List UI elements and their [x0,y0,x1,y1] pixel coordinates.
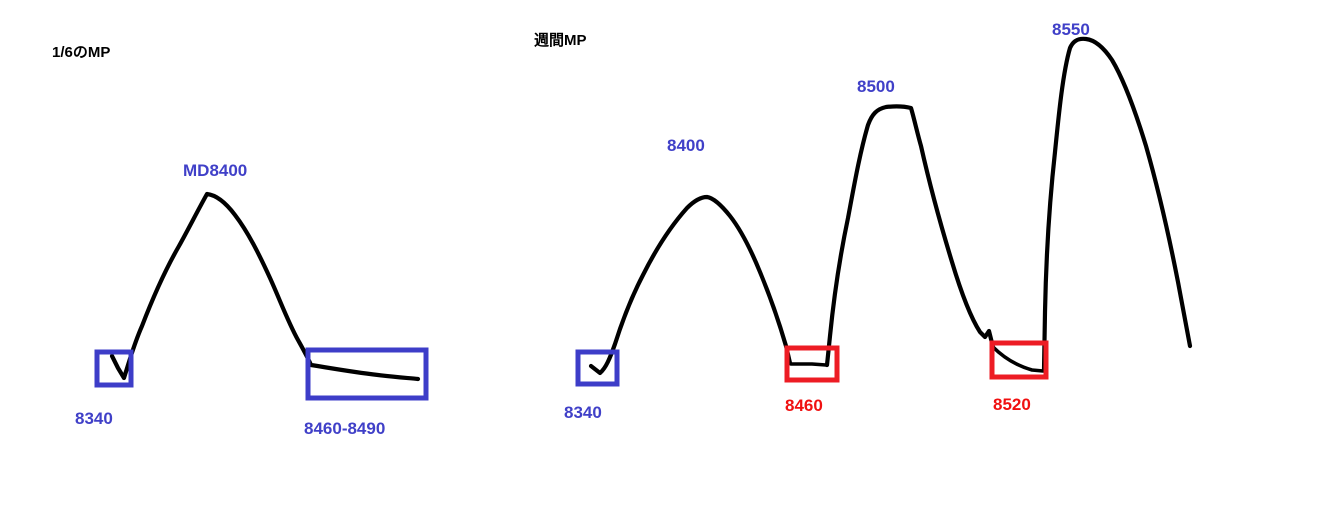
daily-label-8460-8490: 8460-8490 [304,419,385,438]
market-profile-sketch: 1/6のMP MD8400 8340 8460-8490 週間MP [0,0,1338,517]
weekly-label-8550: 8550 [1052,20,1090,39]
daily-peak-label: MD8400 [183,161,247,180]
weekly-flat-8460 [791,364,826,365]
daily-label-8340: 8340 [75,409,113,428]
panel-weekly-title: 週間MP [534,32,587,49]
weekly-curve-hump-8400 [591,197,790,373]
weekly-label-8520: 8520 [993,395,1031,414]
panel-weekly: 週間MP 8400 8500 8550 8340 8460 8520 [534,20,1190,422]
weekly-label-8500: 8500 [857,77,895,96]
weekly-curve-hump-8550 [1044,39,1190,370]
weekly-flat-8520 [993,347,1043,371]
weekly-curve-hump-8500 [827,106,993,365]
weekly-label-8460: 8460 [785,396,823,415]
weekly-label-8340: 8340 [564,403,602,422]
panel-daily-title: 1/6のMP [52,44,110,61]
weekly-label-8400: 8400 [667,136,705,155]
panel-daily: 1/6のMP MD8400 8340 8460-8490 [52,44,426,438]
